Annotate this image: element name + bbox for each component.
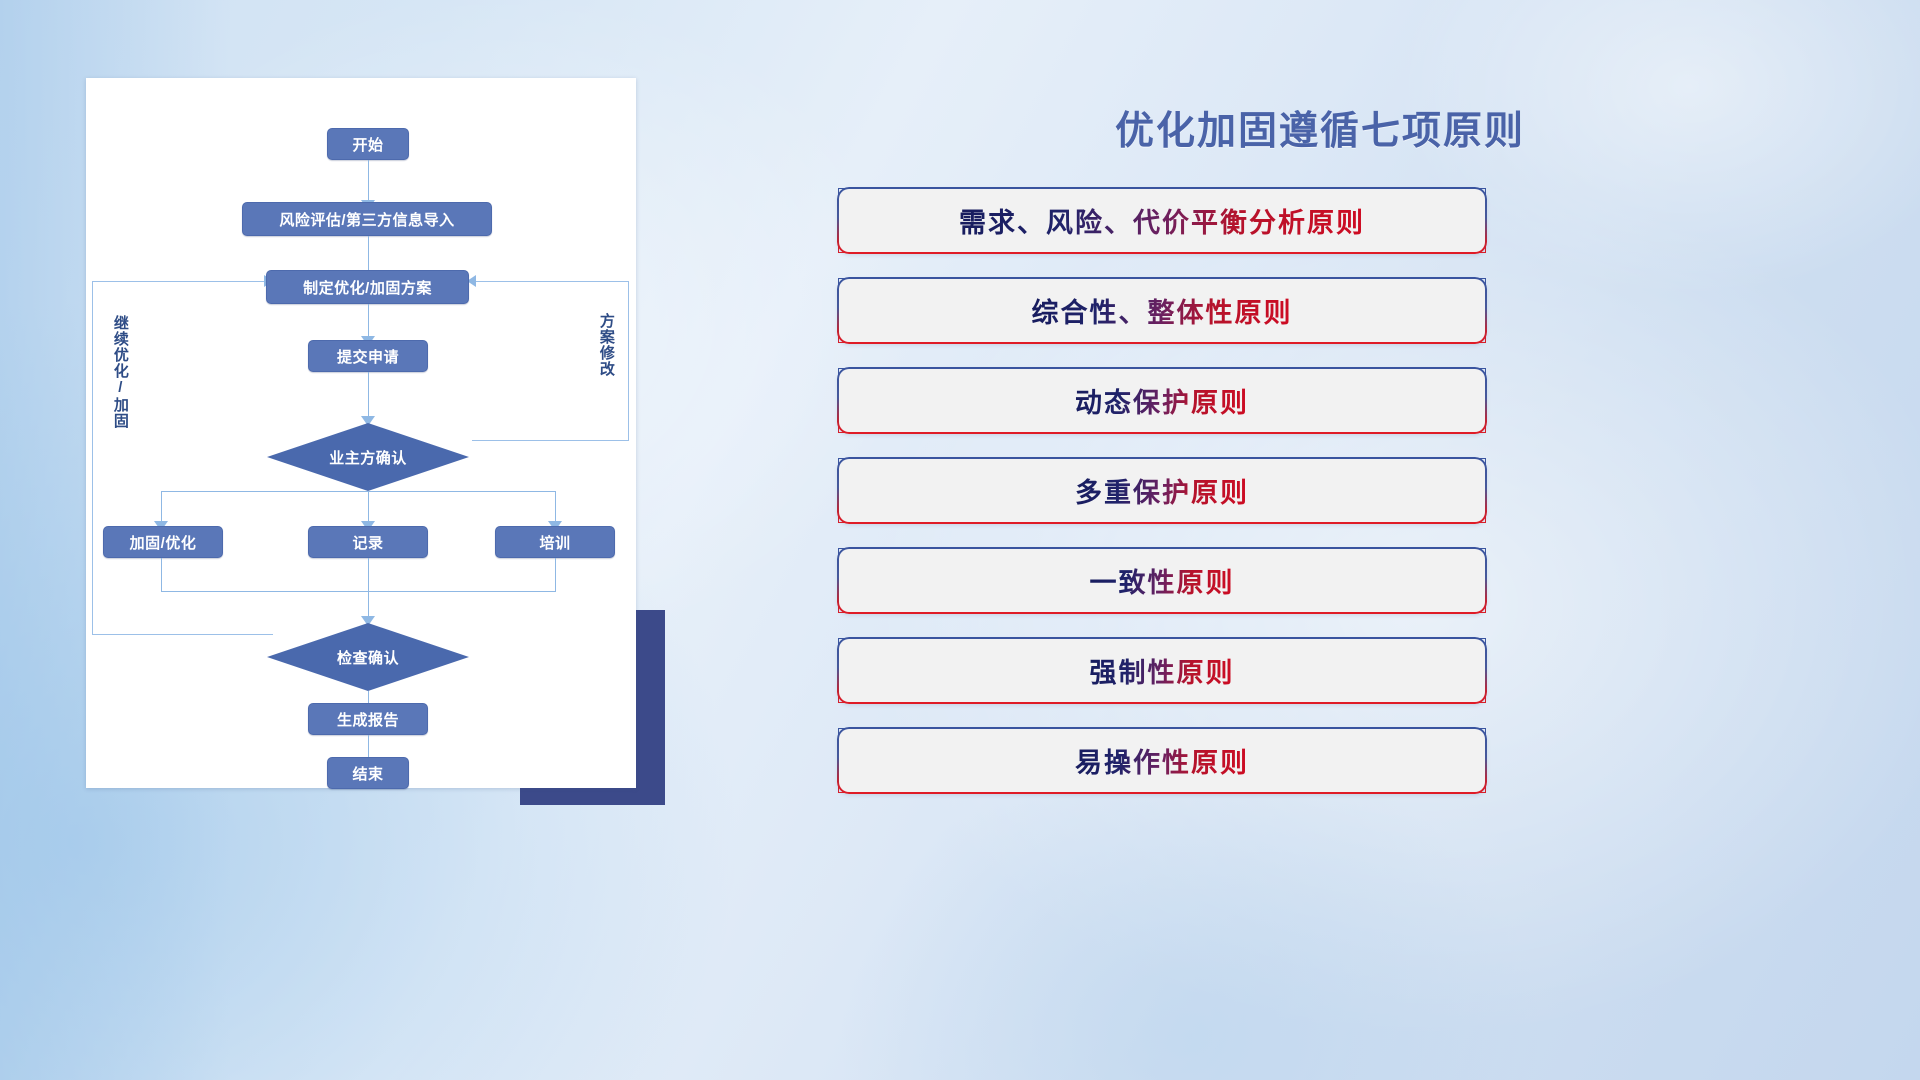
node-end[interactable]: 结束 bbox=[327, 757, 409, 789]
node-submit-application[interactable]: 提交申请 bbox=[308, 340, 428, 372]
node-check-confirm[interactable]: 检查确认 bbox=[267, 623, 469, 691]
principle-card[interactable]: 动态保护原则 bbox=[838, 368, 1486, 433]
node-start[interactable]: 开始 bbox=[327, 128, 409, 160]
principle-card-label: 需求、风险、代价平衡分析原则 bbox=[959, 201, 1365, 240]
principle-card[interactable]: 综合性、整体性原则 bbox=[838, 278, 1486, 343]
node-training[interactable]: 培训 bbox=[495, 526, 615, 558]
edge-split-bar bbox=[161, 491, 556, 492]
principle-card[interactable]: 易操作性原则 bbox=[838, 728, 1486, 793]
principle-card-label: 多重保护原则 bbox=[1075, 471, 1249, 510]
node-training-label: 培训 bbox=[539, 532, 570, 553]
principle-card[interactable]: 需求、风险、代价平衡分析原则 bbox=[838, 188, 1486, 253]
node-reinforce-optimize-label: 加固/优化 bbox=[130, 532, 197, 553]
node-make-plan[interactable]: 制定优化/加固方案 bbox=[266, 270, 469, 304]
flowchart-card: 继续优化/加固 方案修改 开始 风险评估/第三方信息导入 制定优化/加固方案 提… bbox=[86, 78, 636, 788]
principle-card-label: 强制性原则 bbox=[1090, 651, 1235, 690]
edge-label-right: 方案修改 bbox=[598, 313, 614, 413]
edge-merge-bar bbox=[161, 591, 556, 592]
panel-title: 优化加固遵循七项原则 bbox=[940, 100, 1700, 156]
node-owner-confirm[interactable]: 业主方确认 bbox=[267, 423, 469, 491]
principles-panel: 优化加固遵循七项原则 需求、风险、代价平衡分析原则 综合性、整体性原则 动态保护… bbox=[830, 70, 1830, 1020]
principle-card-label: 综合性、整体性原则 bbox=[1032, 291, 1293, 330]
node-generate-report[interactable]: 生成报告 bbox=[308, 703, 428, 735]
edge-merge-left bbox=[161, 558, 162, 592]
edge-merge-right bbox=[555, 558, 556, 592]
principle-card-label: 易操作性原则 bbox=[1075, 741, 1249, 780]
principle-card[interactable]: 多重保护原则 bbox=[838, 458, 1486, 523]
principle-card[interactable]: 一致性原则 bbox=[838, 548, 1486, 613]
principle-card-label: 动态保护原则 bbox=[1075, 381, 1249, 420]
edge-merge-down bbox=[368, 558, 369, 624]
node-risk-assessment[interactable]: 风险评估/第三方信息导入 bbox=[242, 202, 492, 236]
node-generate-report-label: 生成报告 bbox=[337, 709, 399, 730]
node-owner-confirm-label: 业主方确认 bbox=[267, 423, 469, 491]
node-risk-assessment-label: 风险评估/第三方信息导入 bbox=[279, 209, 454, 230]
node-reinforce-optimize[interactable]: 加固/优化 bbox=[103, 526, 223, 558]
node-submit-application-label: 提交申请 bbox=[337, 346, 399, 367]
node-check-confirm-label: 检查确认 bbox=[267, 623, 469, 691]
node-end-label: 结束 bbox=[352, 763, 383, 784]
edge-label-left: 继续优化/加固 bbox=[112, 315, 128, 445]
node-start-label: 开始 bbox=[352, 134, 383, 155]
principles-list: 需求、风险、代价平衡分析原则 综合性、整体性原则 动态保护原则 多重保护原则 一… bbox=[838, 188, 1486, 818]
node-record-label: 记录 bbox=[352, 532, 383, 553]
principle-card-label: 一致性原则 bbox=[1090, 561, 1235, 600]
principle-card[interactable]: 强制性原则 bbox=[838, 638, 1486, 703]
node-record[interactable]: 记录 bbox=[308, 526, 428, 558]
node-make-plan-label: 制定优化/加固方案 bbox=[303, 277, 432, 298]
